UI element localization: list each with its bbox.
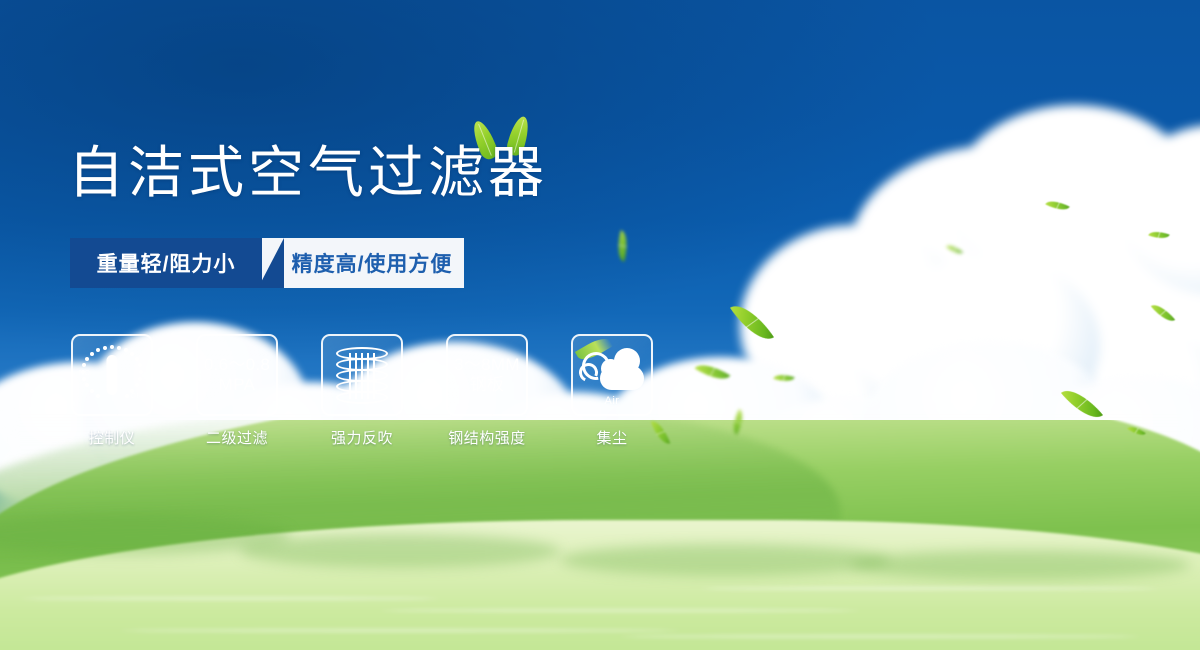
dial-indicator [107,355,118,395]
filter-cartridge-icon [334,346,390,404]
feature-icon-box: NO OFF [71,334,153,416]
steel-plate-text-icon: 3～8MM 钢板 [454,355,520,394]
feature-item-filter[interactable]: 0.6～0.8 MPA 二级过滤 [195,334,279,448]
feature-item-dust[interactable]: Air 集尘 [570,334,654,448]
feature-label: 二级过滤 [206,427,268,448]
feature-icon-box: 0.6～0.8 MPA [196,334,278,416]
air-cloud-icon: Air [578,346,646,404]
dial-label-off: OFF [131,393,147,400]
steel-thickness: 3～8MM [454,355,520,374]
feature-icon-box [321,334,403,416]
feature-item-steel[interactable]: 3～8MM 钢板 钢结构强度 [445,334,529,448]
tagline-right: 精度高/使用方便 [262,238,464,288]
pressure-range: 0.6～0.8 [204,355,270,374]
feature-list: NO OFF [70,334,654,448]
feature-item-backwash[interactable]: 强力反吹 [320,334,404,448]
feature-label: 集尘 [596,427,627,448]
tagline-left: 重量轻/阻力小 [70,238,262,288]
feature-label: 控制仪 [89,427,136,448]
product-banner: 自洁式空气过滤器 重量轻/阻力小 精度高/使用方便 NO OFF [0,0,1200,650]
feature-label: 钢结构强度 [448,427,526,448]
air-label: Air [578,395,646,407]
grass-field [0,420,1200,650]
pressure-unit: MPA [204,375,270,395]
pressure-text-icon: 0.6～0.8 MPA [204,355,270,394]
feature-icon-box: Air [571,334,653,416]
feature-icon-box: 3～8MM 钢板 [446,334,528,416]
feature-item-control[interactable]: NO OFF [70,334,154,448]
page-title: 自洁式空气过滤器 [68,145,548,201]
tagline-bar: 重量轻/阻力小 精度高/使用方便 [70,238,464,288]
feature-label: 强力反吹 [331,427,393,448]
steel-material: 钢板 [454,375,520,395]
control-dial-icon: NO OFF [79,344,145,406]
